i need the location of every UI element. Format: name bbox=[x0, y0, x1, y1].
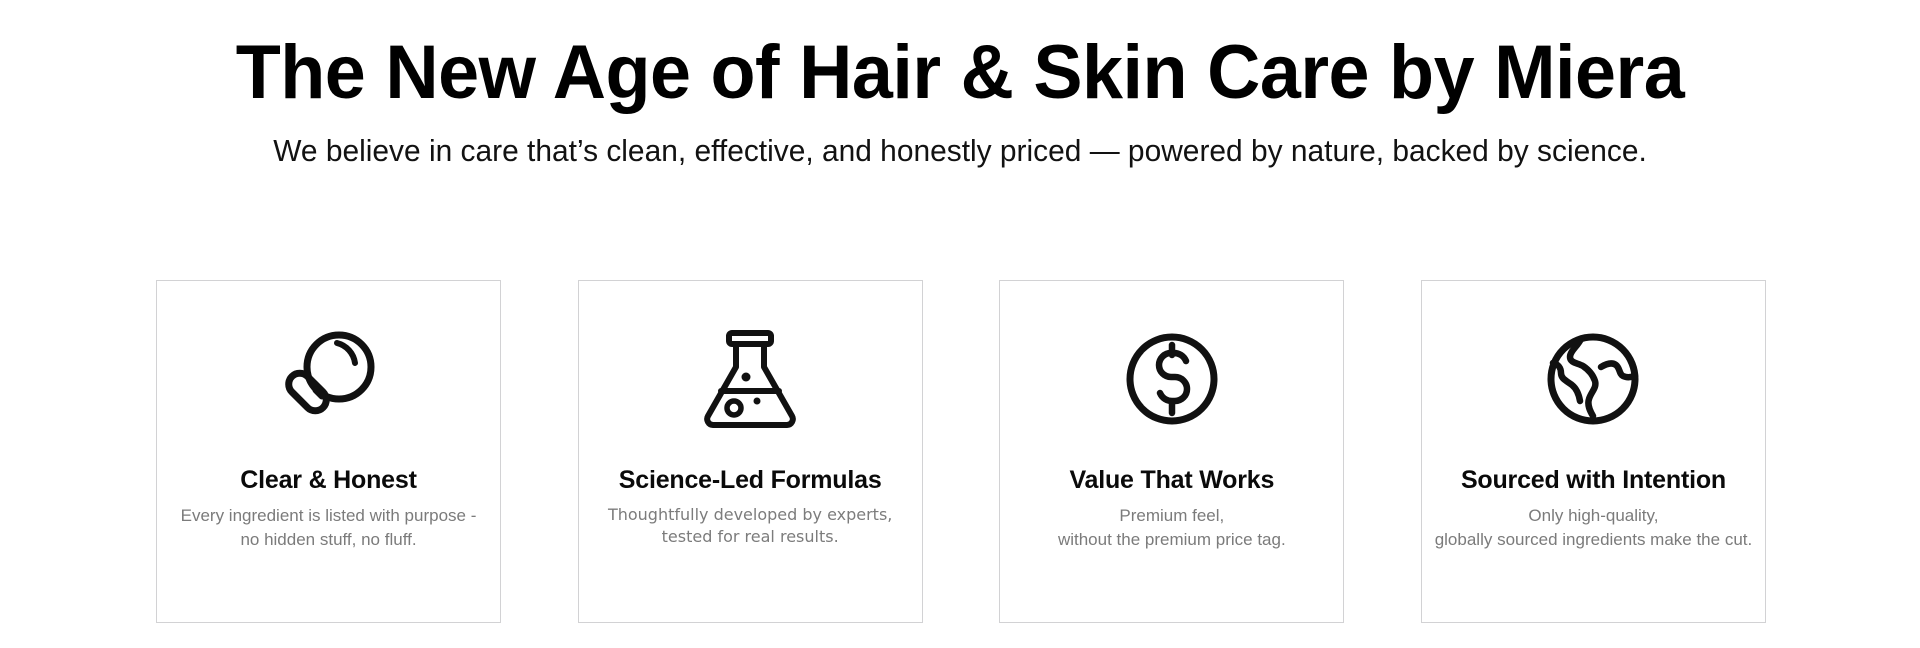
globe-icon bbox=[1537, 309, 1649, 449]
flask-icon bbox=[694, 309, 806, 449]
hero-header: The New Age of Hair & Skin Care by Miera… bbox=[0, 0, 1920, 169]
feature-card-science-led-formulas[interactable]: Science-Led Formulas Thoughtfully develo… bbox=[578, 280, 923, 623]
feature-card-description: Only high-quality, globally sourced ingr… bbox=[1429, 504, 1759, 552]
feature-card-title: Sourced with Intention bbox=[1461, 467, 1726, 495]
dollar-coin-icon bbox=[1116, 309, 1228, 449]
feature-card-description: Premium feel, without the premium price … bbox=[1052, 504, 1292, 552]
feature-card-title: Science-Led Formulas bbox=[619, 467, 882, 495]
feature-card-description: Every ingredient is listed with purpose … bbox=[175, 504, 483, 552]
feature-card-clear-and-honest[interactable]: Clear & Honest Every ingredient is liste… bbox=[156, 280, 501, 623]
hero-subtitle: We believe in care that’s clean, effecti… bbox=[34, 132, 1887, 169]
feature-card-sourced-with-intention[interactable]: Sourced with Intention Only high-quality… bbox=[1421, 280, 1766, 623]
feature-card-value-that-works[interactable]: Value That Works Premium feel, without t… bbox=[999, 280, 1344, 623]
page-title: The New Age of Hair & Skin Care by Miera bbox=[29, 34, 1891, 112]
feature-card-grid: Clear & Honest Every ingredient is liste… bbox=[156, 280, 1766, 623]
landing-hero-section: The New Age of Hair & Skin Care by Miera… bbox=[0, 0, 1920, 648]
feature-card-description: Thoughtfully developed by experts, teste… bbox=[602, 504, 898, 549]
magnifying-glass-icon bbox=[273, 309, 385, 449]
feature-card-title: Clear & Honest bbox=[240, 467, 416, 495]
feature-card-title: Value That Works bbox=[1069, 467, 1274, 495]
